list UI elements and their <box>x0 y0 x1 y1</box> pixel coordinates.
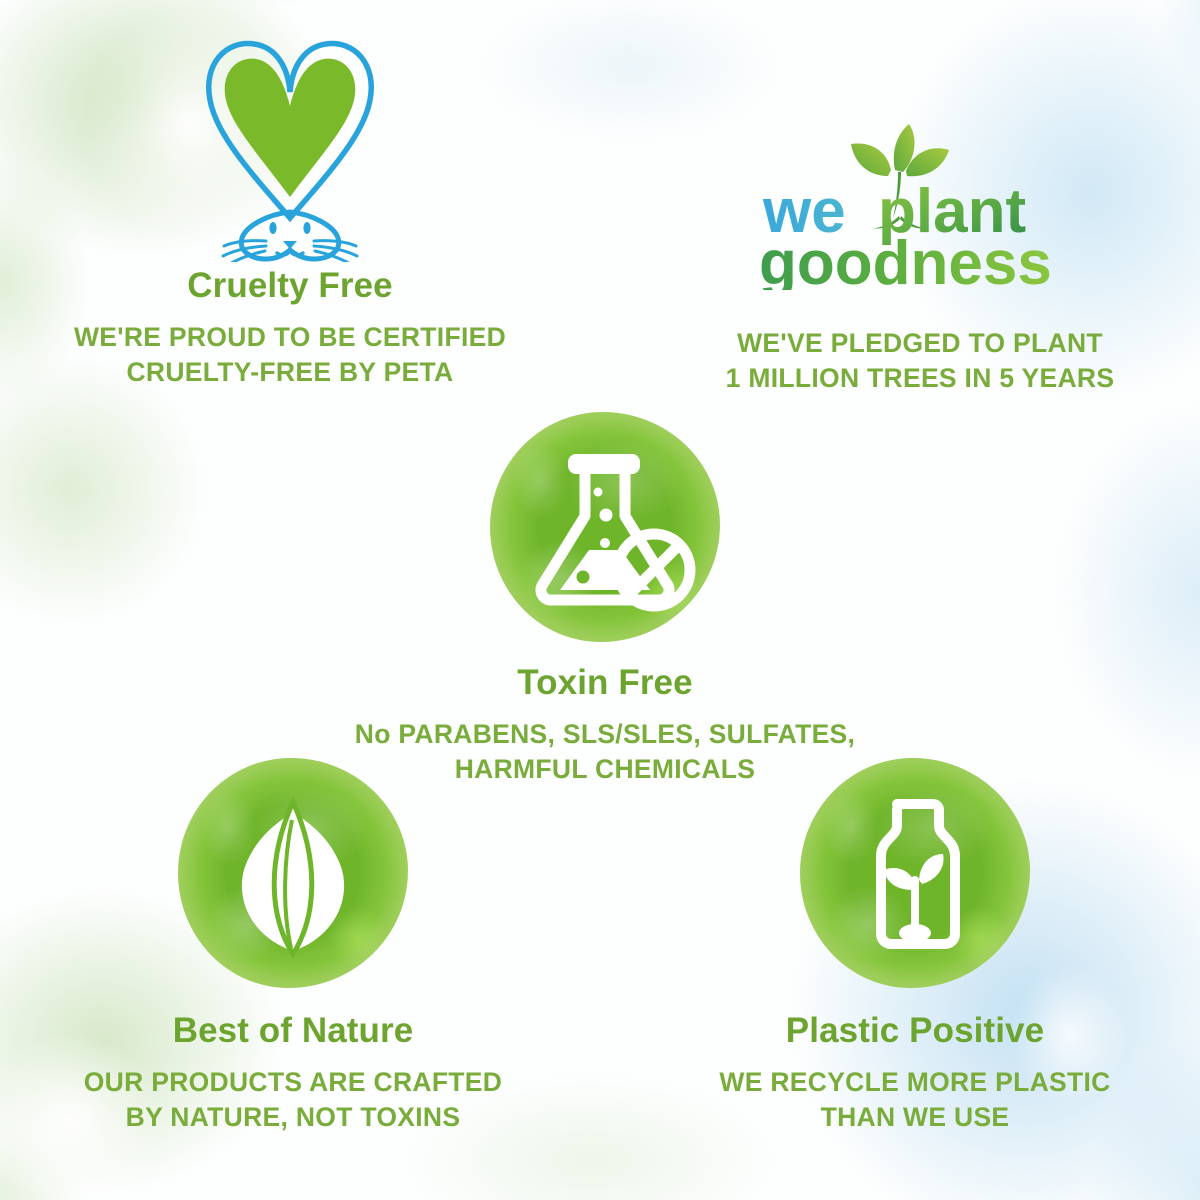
panel-description: WE'RE PROUD TO BE CERTIFIED CRUELTY-FREE… <box>0 320 580 390</box>
panel-plastic-positive: Plastic Positive WE RECYCLE MORE PLASTIC… <box>655 758 1175 1135</box>
flask-no-toxins-icon <box>490 412 720 642</box>
logo-word-goodness: goodness <box>759 229 1052 290</box>
peta-cruelty-free-bunny-icon <box>0 22 580 267</box>
panel-description-line: THAN WE USE <box>655 1100 1175 1135</box>
panel-description-line: No PARABENS, SLS/SLES, SULFATES, <box>325 717 885 752</box>
panel-description: OUR PRODUCTS ARE CRAFTED BY NATURE, NOT … <box>8 1065 578 1135</box>
panel-title: Toxin Free <box>325 664 885 703</box>
panel-title: Best of Nature <box>8 1012 578 1051</box>
panel-title: Cruelty Free <box>0 267 580 306</box>
panel-description-line: OUR PRODUCTS ARE CRAFTED <box>8 1065 578 1100</box>
we-plant-goodness-logo: we plant goodness <box>640 120 1200 290</box>
panel-description-line: CRUELTY-FREE BY PETA <box>0 355 580 390</box>
panel-description-line: 1 MILLION TREES IN 5 YEARS <box>640 361 1200 396</box>
bottle-with-sprout-icon <box>800 758 1030 988</box>
panel-description: WE'VE PLEDGED TO PLANT 1 MILLION TREES I… <box>640 326 1200 396</box>
panel-description: WE RECYCLE MORE PLASTIC THAN WE USE <box>655 1065 1175 1135</box>
panel-description-line: WE'VE PLEDGED TO PLANT <box>640 326 1200 361</box>
panel-description-line: BY NATURE, NOT TOXINS <box>8 1100 578 1135</box>
panel-description-line: WE'RE PROUD TO BE CERTIFIED <box>0 320 580 355</box>
panel-title: Plastic Positive <box>655 1012 1175 1051</box>
three-leaves-icon <box>178 758 408 988</box>
panel-we-plant-goodness: we plant goodness WE'VE PLEDGED TO PLANT… <box>640 120 1200 396</box>
panel-description-line: WE RECYCLE MORE PLASTIC <box>655 1065 1175 1100</box>
panel-toxin-free: Toxin Free No PARABENS, SLS/SLES, SULFAT… <box>325 412 885 787</box>
infographic-canvas: Cruelty Free WE'RE PROUD TO BE CERTIFIED… <box>0 0 1200 1200</box>
panel-cruelty-free: Cruelty Free WE'RE PROUD TO BE CERTIFIED… <box>0 22 580 390</box>
panel-best-of-nature: Best of Nature OUR PRODUCTS ARE CRAFTED … <box>8 758 578 1135</box>
